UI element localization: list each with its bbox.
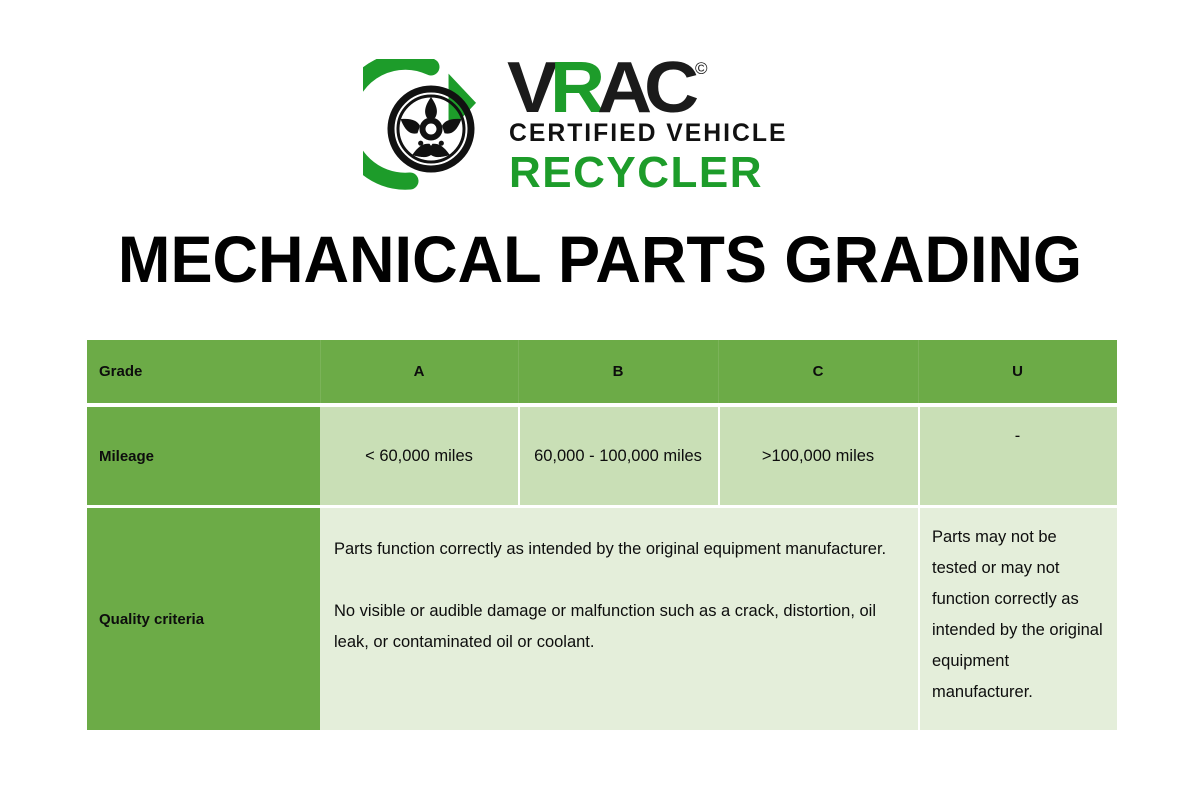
quality-cell-abc: Parts function correctly as intended by … <box>320 508 918 730</box>
quality-cell-u: Parts may not be tested or may not funct… <box>918 508 1117 730</box>
header-cell-grade-u: U <box>918 340 1117 403</box>
vrac-letter-r: R <box>550 57 600 119</box>
vrac-letter-c: C <box>644 57 694 119</box>
copyright-icon: © <box>695 60 708 77</box>
logo-wordmark: V R A C © CERTIFIED VEHICLE RECYCLER <box>507 57 837 197</box>
table-header-row: Grade A B C U <box>87 340 1117 403</box>
header-cell-grade: Grade <box>87 340 320 403</box>
page-title: MECHANICAL PARTS GRADING <box>27 222 1173 296</box>
vrac-wordmark: V R A C © <box>507 57 708 119</box>
row-label-quality-criteria: Quality criteria <box>87 508 320 730</box>
logo-tagline-recycler: RECYCLER <box>509 149 763 197</box>
table-row-quality-criteria: Quality criteria Parts function correctl… <box>87 508 1117 730</box>
logo-tagline-certified-vehicle: CERTIFIED VEHICLE <box>509 119 787 148</box>
brand-logo: V R A C © CERTIFIED VEHICLE RECYCLER <box>0 52 1200 202</box>
quality-paragraph-1: Parts function correctly as intended by … <box>334 534 900 565</box>
vrac-letter-a: A <box>597 57 647 119</box>
mileage-cell-a: < 60,000 miles <box>320 407 518 505</box>
mileage-cell-c: >100,000 miles <box>718 407 918 505</box>
recycling-arrow-wheel-icon <box>363 59 499 195</box>
row-label-mileage: Mileage <box>87 407 320 505</box>
mileage-cell-b: 60,000 - 100,000 miles <box>518 407 718 505</box>
header-cell-grade-c: C <box>718 340 918 403</box>
quality-paragraph-u: Parts may not be tested or may not funct… <box>932 522 1103 708</box>
quality-paragraph-2: No visible or audible damage or malfunct… <box>334 596 900 658</box>
header-cell-grade-b: B <box>518 340 718 403</box>
mechanical-parts-grading-table: Grade A B C U Mileage < 60,000 miles 60,… <box>87 340 1117 730</box>
mileage-cell-u: - <box>918 407 1117 505</box>
vrac-letter-v: V <box>507 57 553 119</box>
header-cell-grade-a: A <box>320 340 518 403</box>
table-row-mileage: Mileage < 60,000 miles 60,000 - 100,000 … <box>87 407 1117 505</box>
